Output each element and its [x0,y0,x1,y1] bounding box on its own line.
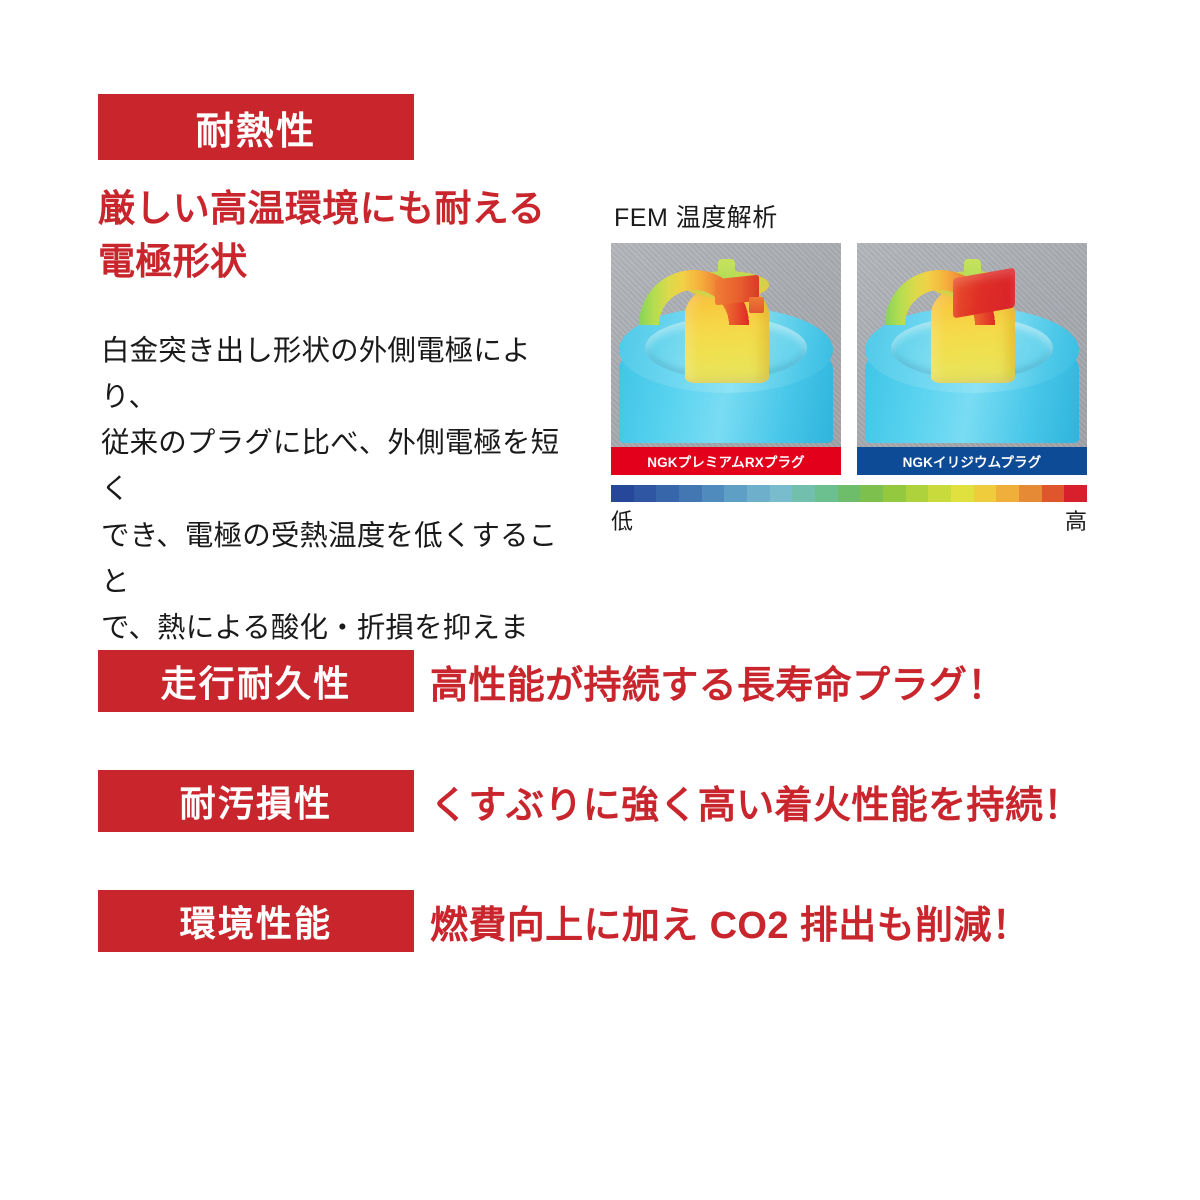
spark-plug-thermal-render-iridium [857,243,1087,475]
scale-band-20 [1064,485,1087,502]
heat-resistance-section: 耐熱性 厳しい高温環境にも耐える 電極形状 白金突き出し形状の外側電極により、 … [0,0,1200,600]
fem-panel-group: NGKプレミアムRXプラグ NGKイリジウムプラグ [611,243,1087,475]
fem-panel-premium-rx: NGKプレミアムRXプラグ [611,243,841,475]
fem-panel-label-iridium: NGKイリジウムプラグ [857,447,1087,475]
scale-band-10 [838,485,861,502]
scale-band-5 [724,485,747,502]
scale-band-17 [996,485,1019,502]
fem-panel-label-premium-rx: NGKプレミアムRXプラグ [611,447,841,475]
scale-band-11 [860,485,883,502]
plug-electrode-nub-icon [749,297,764,313]
heat-headline-line-1: 厳しい高温環境にも耐える [98,183,568,236]
scale-band-19 [1042,485,1065,502]
feature-list: 走行耐久性高性能が持続する長寿命プラグ！耐汚損性くすぶりに強く高い着火性能を持続… [0,648,1200,1008]
scale-band-12 [883,485,906,502]
heat-body-text: 白金突き出し形状の外側電極により、 従来のプラグに比べ、外側電極を短く でき、電… [101,328,581,697]
page-root: 耐熱性 厳しい高温環境にも耐える 電極形状 白金突き出し形状の外側電極により、 … [0,0,1200,1200]
temperature-scale: 低 高 [611,485,1087,536]
scale-band-6 [747,485,770,502]
fem-analysis-figure: FEM 温度解析 NGKプレミアムRXプラグ [611,198,1087,536]
heat-body-line-2: 従来のプラグに比べ、外側電極を短く [101,420,581,512]
scale-band-15 [951,485,974,502]
scale-band-4 [702,485,725,502]
temperature-scale-bar [611,485,1087,502]
feature-row: 走行耐久性高性能が持続する長寿命プラグ！ [0,648,1200,768]
scale-band-18 [1019,485,1042,502]
scale-label-low: 低 [611,504,633,536]
scale-band-7 [770,485,793,502]
feature-row: 環境性能燃費向上に加え CO2 排出も削減！ [0,888,1200,1008]
feature-text: くすぶりに強く高い着火性能を持続！ [430,770,1082,832]
feature-text: 高性能が持続する長寿命プラグ！ [430,650,1006,712]
feature-badge: 耐汚損性 [98,770,414,832]
scale-band-8 [792,485,815,502]
scale-label-high: 高 [1065,504,1087,536]
feature-badge: 走行耐久性 [98,650,414,712]
scale-band-3 [679,485,702,502]
heat-headline-line-2: 電極形状 [98,236,568,289]
heat-body-line-1: 白金突き出し形状の外側電極により、 [101,328,581,420]
scale-band-0 [611,485,634,502]
scale-band-13 [906,485,929,502]
temperature-scale-labels: 低 高 [611,504,1087,536]
scale-band-16 [974,485,997,502]
spark-plug-thermal-render-rx [611,243,841,475]
fem-title: FEM 温度解析 [611,198,1087,234]
scale-band-9 [815,485,838,502]
scale-band-14 [928,485,951,502]
badge-heat-resistance: 耐熱性 [98,94,414,160]
feature-row: 耐汚損性くすぶりに強く高い着火性能を持続！ [0,768,1200,888]
scale-band-2 [656,485,679,502]
feature-text: 燃費向上に加え CO2 排出も削減！ [430,890,1030,952]
scale-band-1 [634,485,657,502]
feature-badge: 環境性能 [98,890,414,952]
heat-body-line-3: でき、電極の受熱温度を低くすること [101,513,581,605]
heat-headline: 厳しい高温環境にも耐える 電極形状 [98,183,568,288]
fem-panel-iridium: NGKイリジウムプラグ [857,243,1087,475]
